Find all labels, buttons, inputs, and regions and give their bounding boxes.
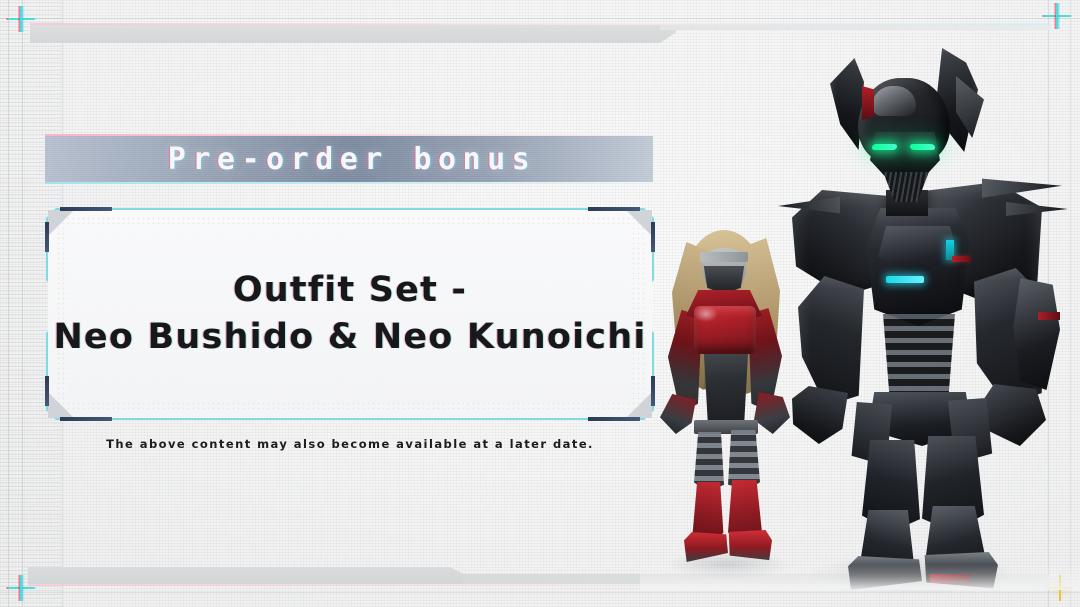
mech-helmet-highlight: [872, 86, 916, 116]
outfit-title-line-2: Neo Bushido & Neo Kunoichi: [53, 315, 646, 360]
guide-line-horizontal-bottom: [0, 592, 1080, 593]
crosshair-icon-bottom-left: [8, 575, 34, 601]
kunoichi-hand-right: [754, 392, 790, 434]
character-neo-kunoichi: [654, 224, 794, 580]
guide-line-vertical-outer: [8, 0, 9, 607]
guide-line-horizontal-top: [0, 18, 1080, 19]
mech-foot-left: [848, 556, 922, 590]
kunoichi-torso: [698, 348, 754, 428]
mech-hand-left: [792, 386, 848, 444]
outfit-set-panel: Outfit Set - Neo Bushido & Neo Kunoichi: [46, 208, 654, 420]
disclaimer-text: The above content may also become availa…: [46, 437, 654, 451]
mech-foot-right: [920, 552, 998, 590]
outfit-title-line-1: Outfit Set -: [233, 268, 467, 313]
mech-red-accent: [952, 256, 970, 262]
mech-cyan-light-strip: [886, 276, 924, 283]
kunoichi-boot-left: [684, 532, 728, 562]
mech-arm-left: [798, 276, 864, 406]
mech-helmet-red-accent: [862, 86, 874, 120]
character-artwork: [640, 30, 1080, 590]
kunoichi-chest-plate: [694, 306, 756, 354]
mech-weapon-red-accent: [1038, 312, 1060, 320]
crosshair-icon-top-left: [8, 6, 34, 32]
kunoichi-boot-right: [726, 530, 772, 562]
kunoichi-headband: [700, 252, 748, 262]
promo-slide: Pre-order bonus Outfit Set - Neo Bushido…: [0, 0, 1080, 607]
mech-eye-right: [909, 144, 935, 150]
outfit-set-title: Outfit Set - Neo Bushido & Neo Kunoichi: [46, 208, 654, 420]
bottom-rail: [28, 567, 468, 584]
kunoichi-hand-left: [660, 394, 696, 434]
top-rail: [30, 25, 676, 43]
mech-foot-red-accent: [930, 574, 970, 583]
character-neo-bushido: [770, 40, 1060, 585]
crosshair-icon-top-right: [1044, 3, 1070, 29]
kunoichi-chest-scuff: [694, 306, 718, 322]
guide-line-vertical-inner: [22, 0, 23, 607]
pre-order-bonus-banner: Pre-order bonus: [45, 136, 653, 182]
banner-title: Pre-order bonus: [45, 142, 653, 177]
mech-eye-left: [871, 144, 897, 150]
mech-hand-right: [984, 384, 1046, 446]
